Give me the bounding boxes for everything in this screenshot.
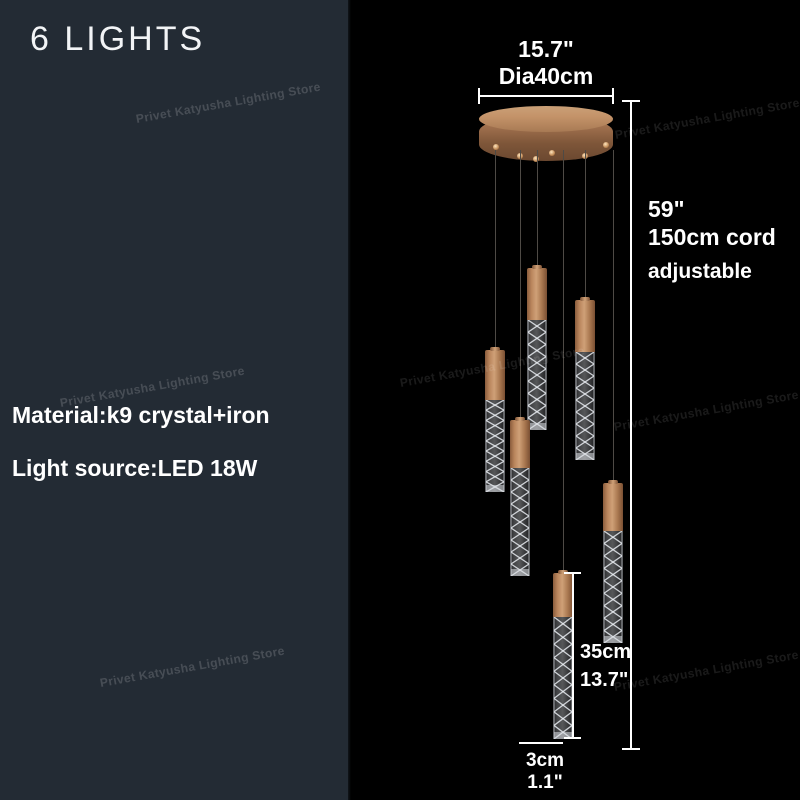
product-image: 6 LIGHTS Material:k9 crystal+iron Light … xyxy=(0,0,800,800)
canopy-screw xyxy=(549,150,555,156)
pendant-light xyxy=(485,350,505,492)
panel-edge xyxy=(348,0,351,800)
pendant-crystal-rod xyxy=(510,468,530,576)
pendant-light xyxy=(603,483,623,643)
watermark-text: Privet Katyusha Lighting Store xyxy=(613,648,800,694)
pendant-crystal-rod xyxy=(575,352,595,460)
watermark-text: Privet Katyusha Lighting Store xyxy=(613,388,800,434)
pendant-crystal-rod xyxy=(603,531,623,643)
watermark-text: Privet Katyusha Lighting Store xyxy=(614,96,800,142)
page-title: 6 LIGHTS xyxy=(30,20,205,59)
spec-light-source: Light source:LED 18W xyxy=(12,455,257,482)
dimension-label-rod-inches: 13.7" xyxy=(580,669,628,692)
pendant-cord xyxy=(520,150,521,420)
pendant-metal-cap xyxy=(485,350,505,400)
dimension-label-cord-inches: 59" xyxy=(648,196,798,223)
pendant-crystal-rod xyxy=(485,400,505,492)
dimension-rule-top xyxy=(478,95,614,97)
pendant-metal-cap xyxy=(527,268,547,320)
dimension-rule-width xyxy=(519,742,563,744)
canopy-screw xyxy=(603,142,609,148)
pendant-light xyxy=(527,268,547,430)
pendant-light xyxy=(575,300,595,460)
pendant-metal-cap xyxy=(510,420,530,468)
info-panel xyxy=(0,0,348,800)
dimension-label-rod-metric: 35cm xyxy=(580,641,631,664)
pendant-cord xyxy=(495,150,496,350)
pendant-crystal-rod xyxy=(553,617,573,739)
dimension-label-diameter-metric: Dia40cm xyxy=(468,63,624,90)
spec-material: Material:k9 crystal+iron xyxy=(12,402,270,429)
pendant-cord xyxy=(563,150,564,573)
pendant-metal-cap xyxy=(553,573,573,617)
dimension-label-width-metric: 3cm xyxy=(514,750,576,772)
canopy-screw xyxy=(493,144,499,150)
pendant-cord xyxy=(537,150,538,268)
dimension-label-cord-metric: 150cm cord xyxy=(648,224,800,251)
dimension-tick-top-right xyxy=(612,88,614,104)
pendant-light xyxy=(510,420,530,576)
pendant-metal-cap xyxy=(603,483,623,531)
dimension-tick-right-top xyxy=(622,100,640,102)
dimension-label-diameter-inches: 15.7" xyxy=(478,36,614,63)
canopy-top-plate xyxy=(479,106,613,132)
dimension-tick-top-left xyxy=(478,88,480,104)
pendant-light xyxy=(553,573,573,739)
dimension-tick-rod-top xyxy=(564,572,581,574)
pendant-cord xyxy=(585,150,586,300)
dimension-rule-rod xyxy=(572,572,574,739)
canopy-screw xyxy=(533,156,539,162)
dimension-label-width-inches: 1.1" xyxy=(514,772,576,794)
ceiling-canopy xyxy=(479,106,613,162)
dimension-tick-right-bottom xyxy=(622,748,640,750)
pendant-cord xyxy=(613,150,614,483)
dimension-label-cord-adjustable: adjustable xyxy=(648,260,800,284)
pendant-crystal-rod xyxy=(527,320,547,430)
dimension-tick-rod-bottom xyxy=(564,737,581,739)
pendant-metal-cap xyxy=(575,300,595,352)
